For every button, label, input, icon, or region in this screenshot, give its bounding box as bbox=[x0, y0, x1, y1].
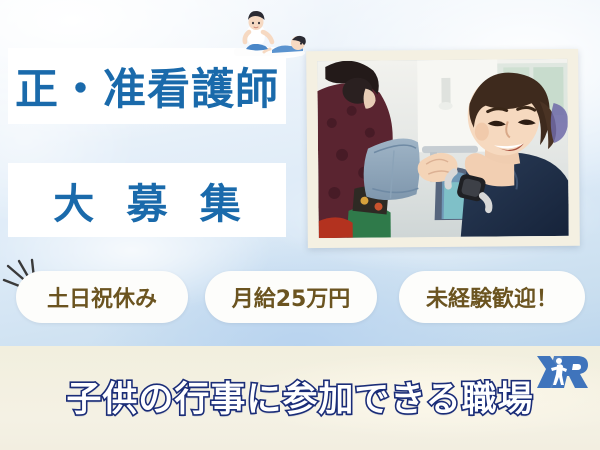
badge-label: 未経験歓迎！ bbox=[426, 281, 558, 313]
badge-label: 月給25万円 bbox=[232, 281, 351, 313]
headline-band-secondary: 大 募 集 bbox=[8, 163, 286, 237]
company-logo-r-mark bbox=[533, 352, 589, 392]
tagline-text: 子供の行事に参加できる職場 bbox=[0, 371, 600, 422]
job-ad-poster: 正・准看護師 大 募 集 bbox=[0, 0, 600, 450]
caregiver-with-elderly-person-photo bbox=[317, 59, 569, 238]
badge-no-experience-welcome: 未経験歓迎！ bbox=[399, 271, 585, 323]
caregiver-and-patient-illustration bbox=[222, 8, 306, 60]
photo-frame bbox=[306, 49, 580, 248]
badge-label: 土日祝休み bbox=[47, 281, 157, 313]
headline-recruiting: 大 募 集 bbox=[8, 163, 286, 237]
badge-monthly-salary: 月給25万円 bbox=[205, 271, 377, 323]
badge-weekend-holidays: 土日祝休み bbox=[16, 271, 188, 323]
